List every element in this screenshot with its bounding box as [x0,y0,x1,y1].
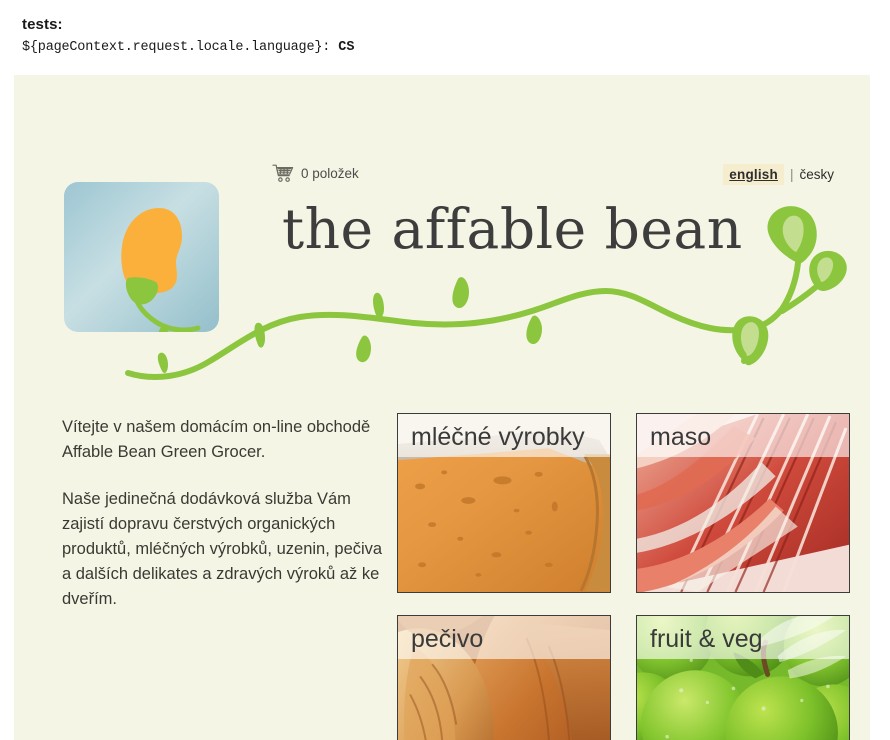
category-label-bakery: pečivo [398,616,610,659]
language-option-english[interactable]: english [723,164,784,185]
test-strip-line: ${pageContext.request.locale.language}: … [22,40,890,55]
category-grid: mléčné výrobky [397,413,857,740]
category-card-dairy[interactable]: mléčné výrobky [397,413,611,593]
category-card-meat[interactable]: maso [636,413,850,593]
intro-paragraph-2: Naše jedinečná dodávková služba Vám zaji… [62,487,384,612]
category-card-bakery[interactable]: pečivo [397,615,611,740]
test-debug-strip: tests: ${pageContext.request.locale.lang… [0,0,890,55]
test-strip-value: CS [338,40,354,55]
category-card-fruit-veg[interactable]: fruit & veg [636,615,850,740]
shopping-cart-icon [272,163,294,183]
category-label-fruit-veg: fruit & veg [637,616,849,659]
language-separator: | [784,167,800,182]
category-label-meat: maso [637,414,849,457]
site-page-panel: 0 položek english | česky the affable be… [14,75,870,740]
intro-paragraph-1: Vítejte v našem domácím on-line obchodě … [62,415,384,465]
cart-summary[interactable]: 0 položek [272,163,359,183]
logo-tile[interactable] [64,182,219,332]
test-strip-expression: ${pageContext.request.locale.language}: [22,40,330,55]
page-title: the affable bean [282,198,743,260]
cart-item-count: 0 položek [301,166,359,181]
language-option-cesky[interactable]: česky [799,167,836,182]
category-label-dairy: mléčné výrobky [398,414,610,457]
test-strip-title: tests: [22,16,890,33]
language-switcher: english | česky [723,164,836,185]
intro-text: Vítejte v našem domácím on-line obchodě … [62,415,384,612]
